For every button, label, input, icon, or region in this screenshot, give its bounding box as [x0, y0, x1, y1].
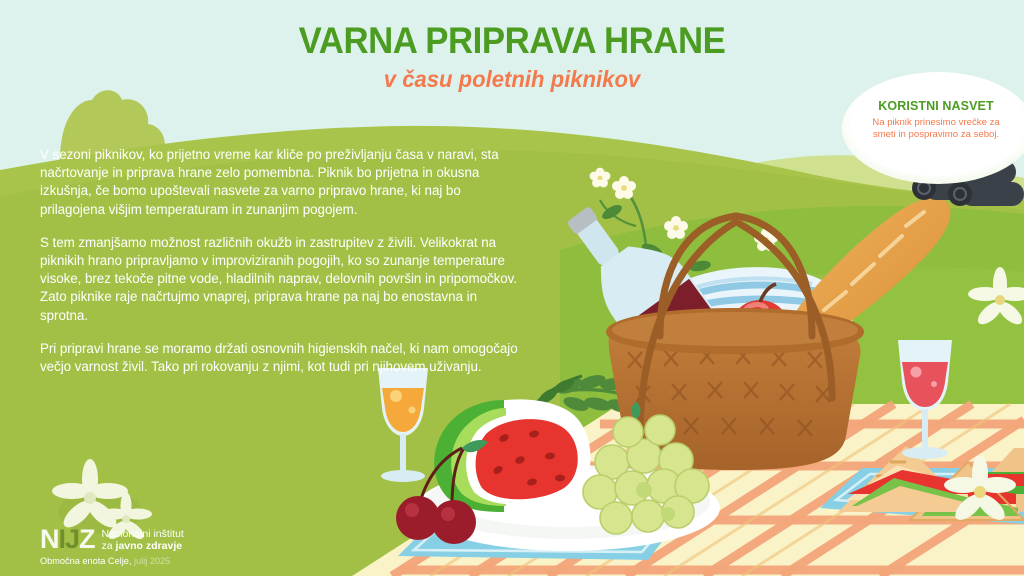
poster-canvas: VARNA PRIPRAVA HRANE v času poletnih pik…	[0, 0, 1024, 576]
body-text: V sezoni piknikov, ko prijetno vreme kar…	[40, 146, 520, 376]
paragraph-1: V sezoni piknikov, ko prijetno vreme kar…	[40, 146, 520, 219]
paragraph-3: Pri pripravi hrane se moramo držati osno…	[40, 340, 520, 376]
paragraph-2: S tem zmanjšamo možnost različnih okužb …	[40, 234, 520, 325]
logo-row: NIJZ Nacionalni inštitut za javno zdravj…	[40, 526, 184, 553]
title-block: VARNA PRIPRAVA HRANE v času poletnih pik…	[0, 22, 1024, 93]
page-title: VARNA PRIPRAVA HRANE	[31, 22, 994, 61]
tip-title: KORISTNI NASVET	[848, 99, 1024, 113]
logo-tagline-line2: za javno zdravje	[102, 541, 184, 553]
logo-unit-line: Območna enota Celje, julij 2025	[40, 556, 170, 566]
tip-text: Na piknik prinesimo vrečke za smeti in p…	[848, 117, 1024, 142]
nijz-logo: NIJZ Nacionalni inštitut za javno zdravj…	[38, 486, 298, 572]
logo-mark-z: Z	[79, 524, 95, 554]
logo-mark-ij: IJ	[59, 524, 80, 554]
logo-wordmark: NIJZ	[40, 526, 95, 553]
logo-date: julij 2025	[131, 556, 170, 566]
tip-callout: KORISTNI NASVET Na piknik prinesimo vreč…	[848, 86, 1024, 171]
watermelon-flesh	[476, 419, 578, 499]
logo-tagline-line2-plain: za	[102, 540, 116, 552]
logo-tagline-line2-bold: javno zdravje	[116, 540, 183, 552]
logo-unit: Območna enota Celje,	[40, 556, 131, 566]
logo-mark-n: N	[40, 524, 59, 554]
logo-tagline: Nacionalni inštitut za javno zdravje	[102, 529, 184, 552]
